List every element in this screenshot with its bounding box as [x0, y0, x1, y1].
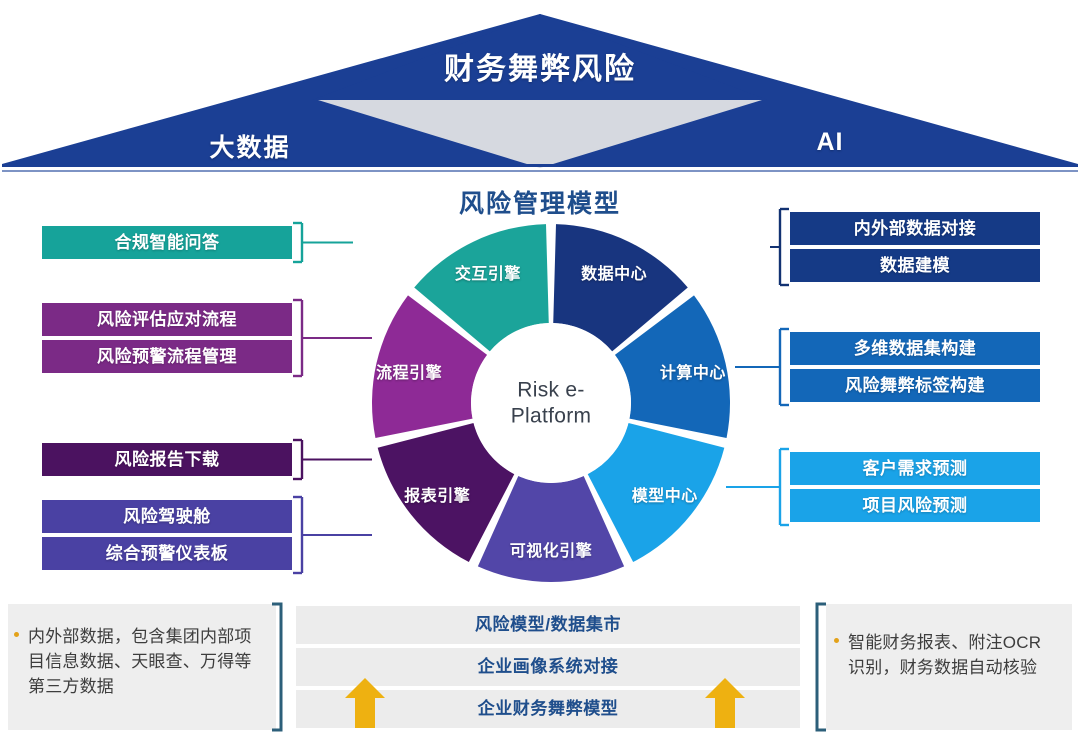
donut-chart: Risk e- Platform 数据中心计算中心模型中心可视化引擎报表引擎流程…	[360, 212, 742, 594]
donut-segment-label: 可视化引擎	[510, 537, 593, 561]
capability-chip[interactable]: 风险报告下载	[42, 443, 292, 476]
capability-chip[interactable]: 项目风险预测	[790, 489, 1040, 522]
pyramid-baseline-2	[2, 170, 1078, 172]
capability-chip[interactable]: 风险预警流程管理	[42, 340, 292, 373]
bottom-left-note: 内外部数据，包含集团内部项目信息数据、天眼查、万得等第三方数据	[28, 624, 264, 699]
pyramid-right-label: AI	[740, 128, 920, 157]
capability-chip[interactable]: 内外部数据对接	[790, 212, 1040, 245]
diagram-canvas: 财务舞弊风险 大数据 AI 风险管理模型 合规智能问答风险评估应对流程风险预警流…	[0, 0, 1080, 736]
donut-segment-label: 交互引擎	[455, 260, 521, 284]
bottom-bracket-right	[817, 604, 826, 730]
pyramid-graphic: 财务舞弊风险 大数据 AI	[0, 0, 1080, 178]
center-row-0: 风险模型/数据集市	[296, 606, 800, 644]
donut-core-label: Risk e- Platform	[476, 377, 626, 428]
donut-segment-label: 流程引擎	[376, 359, 442, 383]
capability-chip[interactable]: 综合预警仪表板	[42, 537, 292, 570]
bullet-right-icon	[834, 638, 839, 643]
donut-segment-label: 数据中心	[581, 260, 647, 284]
capability-chip[interactable]: 风险评估应对流程	[42, 303, 292, 336]
up-arrow-left-icon	[344, 676, 386, 730]
donut-segment-label: 模型中心	[632, 482, 698, 506]
up-arrow-right-icon	[704, 676, 746, 730]
capability-chip[interactable]: 风险舞弊标签构建	[790, 369, 1040, 402]
donut-segment-label: 计算中心	[660, 359, 726, 383]
pyramid-top-label: 财务舞弊风险	[380, 44, 700, 88]
capability-chip[interactable]: 客户需求预测	[790, 452, 1040, 485]
pyramid-baseline-1	[2, 164, 1078, 167]
bullet-left-icon	[14, 632, 19, 637]
pyramid-left-label: 大数据	[140, 128, 360, 164]
core-line-2: Platform	[476, 403, 626, 429]
capability-chip[interactable]: 风险驾驶舱	[42, 500, 292, 533]
donut-segment-label: 报表引擎	[404, 482, 470, 506]
core-line-1: Risk e-	[476, 377, 626, 403]
capability-chip[interactable]: 多维数据集构建	[790, 332, 1040, 365]
capability-chip[interactable]: 数据建模	[790, 249, 1040, 282]
capability-chip[interactable]: 合规智能问答	[42, 226, 292, 259]
bottom-right-note: 智能财务报表、附注OCR识别，财务数据自动核验	[848, 630, 1058, 680]
